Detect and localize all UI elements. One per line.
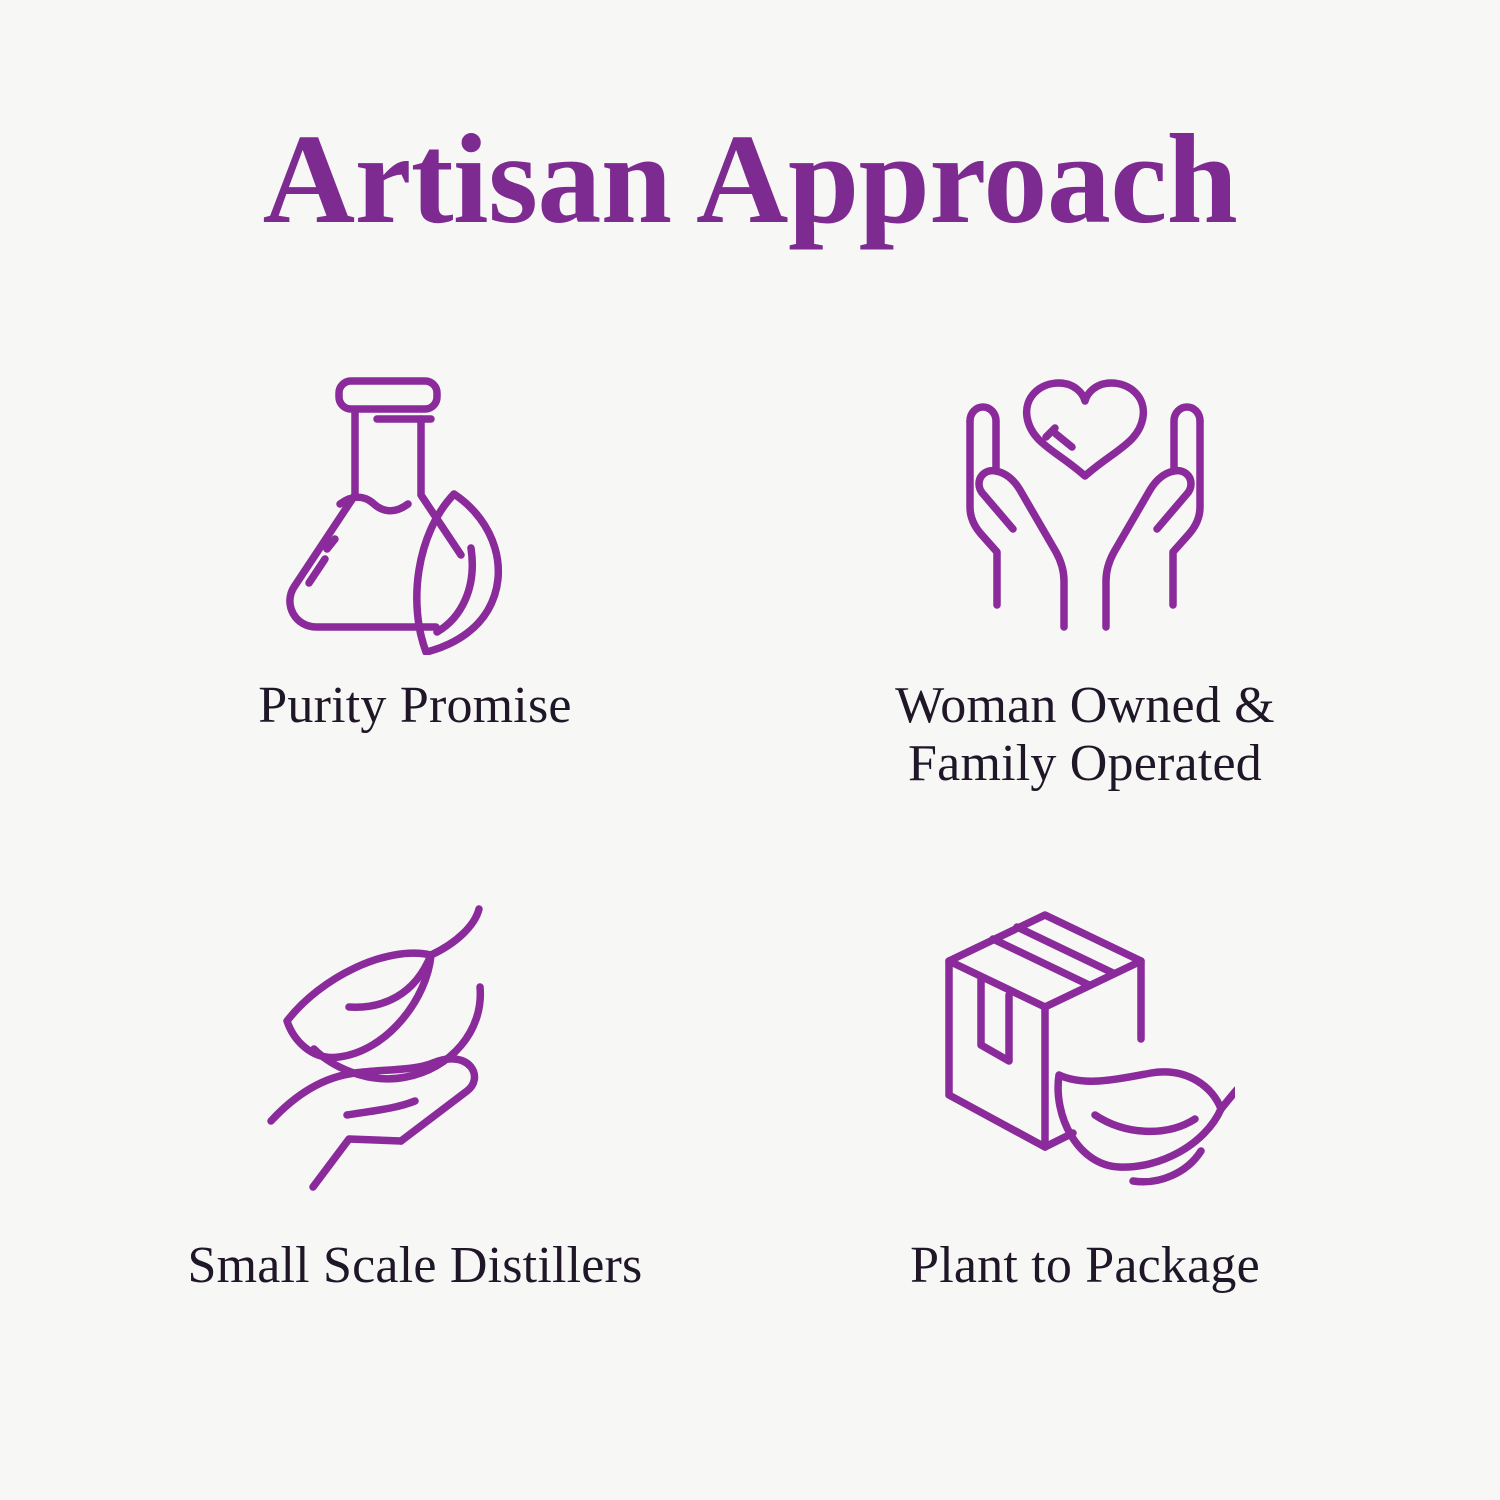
feature-label: Plant to Package [910,1237,1260,1295]
page-title: Artisan Approach [0,112,1500,246]
leaf-over-hand-icon [265,903,565,1203]
feature-label: Purity Promise [258,677,571,735]
box-leaf-icon [935,903,1235,1203]
feature-small-scale-distillers: Small Scale Distillers [90,885,740,1415]
flask-leaf-icon [265,355,565,655]
feature-purity-promise: Purity Promise [90,355,740,885]
hands-holding-heart-icon [935,355,1235,655]
feature-grid: Purity Promise [90,355,1410,1415]
feature-woman-owned: Woman Owned & Family Operated [760,355,1410,885]
feature-plant-to-package: Plant to Package [760,885,1410,1415]
artisan-approach-panel: Artisan Approach [0,0,1500,1500]
feature-label: Woman Owned & Family Operated [895,677,1275,793]
feature-label: Small Scale Distillers [187,1237,642,1295]
